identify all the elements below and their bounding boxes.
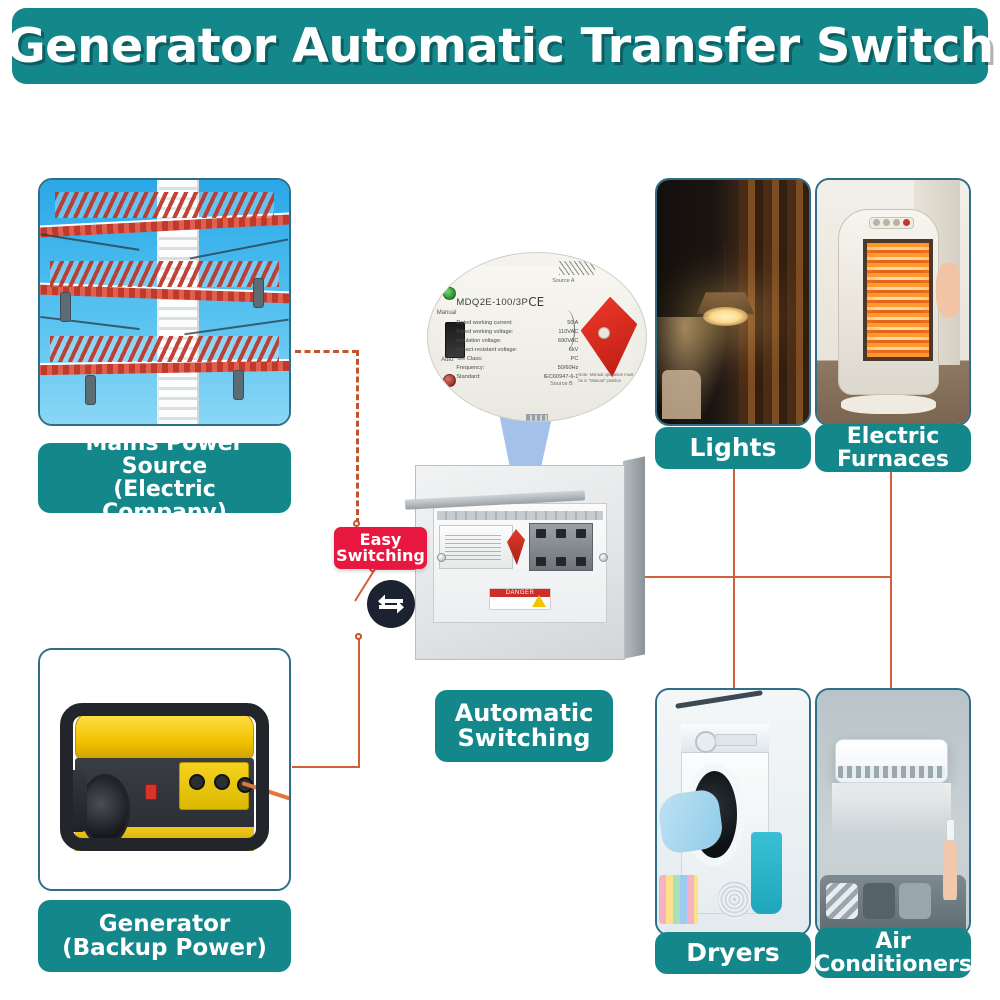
ac-remote-control[interactable] [946,819,955,841]
spec-name: Standard: [456,373,480,382]
breaker-terminal [536,529,546,538]
breaker-terminal [576,557,586,566]
page-title: Generator Automatic Transfer Switch [6,19,993,74]
electric-furnaces-label: Electric Furnaces [815,424,971,472]
air-conditioners-photo [815,688,971,936]
transfer-switch-panel[interactable]: DANGER [415,455,645,670]
manual-mode-label: Manual [437,310,457,316]
connector-generator-endpoint [355,633,362,640]
handle-center-screw [598,327,610,339]
ac-air-louver [838,766,944,778]
connector-load-bus-horizontal [642,576,891,578]
spec-value: 50 A [567,319,578,328]
sofa-cushion [899,883,931,920]
easy-switching-line2: Switching [336,548,425,564]
connector-generator-horizontal [292,766,360,768]
heater-button[interactable] [883,219,890,226]
pendant-cord [724,243,726,297]
easy-switching-badge: Easy Switching [334,527,427,569]
source-a-label: Source A [552,278,574,284]
generator-roll-cage [60,703,269,851]
ac-airflow [832,783,951,837]
warning-triangle-icon [532,595,546,607]
panel-screw-left [437,553,446,562]
spec-value: 110VAC [558,328,578,337]
generator-label-line1: Generator [62,912,267,936]
spec-name: Rated working voltage: [456,328,513,337]
module-label-lines [445,535,501,563]
connector-generator-vertical [358,637,360,768]
danger-warning-sticker: DANGER [489,588,551,610]
breaker-terminal [536,557,546,566]
auto-mode-label: Auto [441,357,453,363]
insulator-lower-left [85,375,96,405]
spec-value: IEC60947-6-1 [544,373,579,382]
breaker-block [529,523,593,571]
person-hand [943,836,957,899]
mains-power-label-line2: (Electric Company) [48,478,281,524]
spec-row: Rated working current:50 A [456,319,578,328]
spec-name: Insulation voltage: [456,337,501,346]
automatic-switching-line2: Switching [455,726,594,751]
sofa-cushion [863,883,895,920]
spec-name: Frequency: [456,364,484,373]
insulator-lower-right [233,370,244,400]
sofa-cushion [826,883,858,920]
page-title-banner: Generator Automatic Transfer Switch [12,8,988,84]
mains-power-label-line1: Mains Power Source [48,432,281,478]
folded-laundry-pile [659,875,699,924]
device-plate-magnifier: Manual Auto MDQ2E-100/3P CE Source A Sou… [427,252,647,422]
generator-label: Generator (Backup Power) [38,900,291,972]
connector-mains-vertical [356,350,359,524]
connector-mains-endpoint [353,520,360,527]
window-curtain [739,180,809,424]
mains-power-label: Mains Power Source (Electric Company) [38,443,291,513]
heater-base [841,395,935,415]
panel-screw-right [599,553,608,562]
lights-label: Lights [655,427,811,469]
device-model-number: MDQ2E-100/3P [456,297,528,308]
infographic-canvas: Generator Automatic Transfer Switch Mai [0,0,1000,1000]
heater-control-buttons[interactable] [869,217,915,229]
generator-photo [38,648,291,891]
bidirectional-arrows-icon [367,580,415,628]
mains-power-photo [38,178,291,426]
spec-row: Frequency:50/60Hz [456,364,578,373]
automatic-switching-label: Automatic Switching [435,690,613,762]
electric-furnaces-line2: Furnaces [837,448,949,471]
tower-lattice-middle [50,261,279,287]
ce-mark-icon: CE [528,295,544,309]
dryers-photo [655,688,811,936]
device-hatch-pattern [559,261,595,275]
heater-button[interactable] [893,219,900,226]
spec-name: Rated working current: [456,319,512,328]
breaker-terminal [576,529,586,538]
heater-button[interactable] [873,219,880,226]
spec-row: Rated working voltage:110VAC [456,328,578,337]
spec-row: Impact-resistant voltage:6kV [456,346,578,355]
breaker-terminal [556,557,566,566]
spec-value: 50/60Hz [558,364,579,373]
air-conditioners-line1: Air [814,930,972,953]
panel-side-depth [623,456,645,659]
person-hand [936,263,960,317]
air-conditioners-line2: Conditioners [814,953,972,976]
spec-row: Tee Class:PC [456,355,578,364]
insulator-right [253,278,264,308]
insulator-left [60,292,71,322]
connector-lights-drop [733,466,735,688]
spec-value: 690VAC [558,337,578,346]
lights-photo [655,178,811,426]
connector-mains-horizontal [295,350,358,353]
device-terminal-tab [526,414,548,422]
spec-value: PC [571,355,579,364]
electric-furnace-photo [815,178,971,426]
spec-row: Insulation voltage:690VAC [456,337,578,346]
laundry-basket [751,832,781,915]
device-spec-table: Rated working current:50 A Rated working… [456,319,578,382]
dryer-display [715,734,758,746]
spec-name: Impact-resistant voltage: [456,346,517,355]
swap-arrows-svg [376,592,406,616]
breaker-terminal [556,529,566,538]
spec-value: 6kV [569,346,579,355]
din-rail [437,511,603,520]
air-conditioners-label: Air Conditioners [815,928,971,978]
heating-element-grill [863,239,933,361]
tower-lattice-top [55,192,274,218]
spec-name: Tee Class: [456,355,482,364]
heater-power-button[interactable] [903,219,910,226]
device-note-text: Note: Manual opertation must be in "Manu… [578,372,635,384]
automatic-switching-line1: Automatic [455,701,594,726]
connector-furnaces-drop [890,466,892,688]
tower-lattice-bottom [50,336,279,362]
status-led-green [443,287,456,300]
generator-label-line2: (Backup Power) [62,936,267,960]
spec-row: Standard:IEC60947-6-1 [456,373,578,382]
dryers-label-text: Dryers [686,940,780,966]
armchair [662,370,702,419]
dryers-label: Dryers [655,932,811,974]
lights-label-text: Lights [689,435,776,461]
electric-furnaces-line1: Electric [837,425,949,448]
